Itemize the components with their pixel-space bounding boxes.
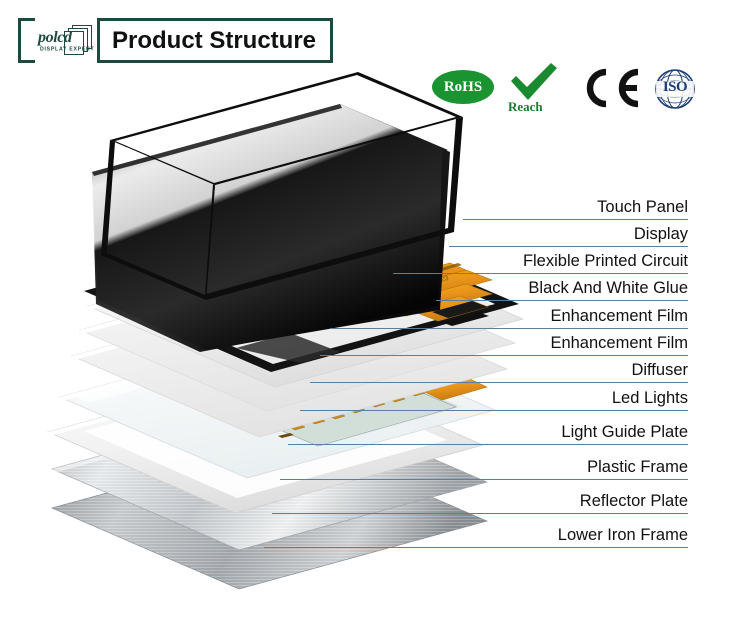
product-structure-page: polcd DISPLAY EXPERT Product Structure R… (0, 0, 750, 632)
logo-tagline: DISPLAY EXPERT (40, 46, 94, 52)
logo-wordmark: polcd (38, 29, 72, 47)
exploded-diagram: P0239023 (0, 0, 750, 632)
